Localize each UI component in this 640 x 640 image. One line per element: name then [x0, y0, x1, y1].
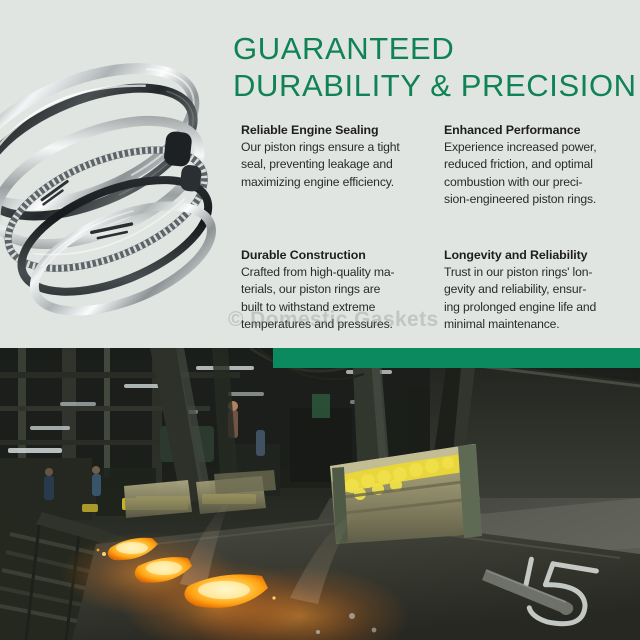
green-accent-bar	[273, 348, 640, 368]
feature-body: Trust in our piston rings' lon- gevity a…	[444, 264, 635, 334]
feature-body: Experience increased power, reduced fric…	[444, 139, 635, 209]
feature-body: Crafted from high-quality ma- terials, o…	[241, 264, 444, 334]
feature-title: Longevity and Reliability	[444, 247, 635, 263]
feature-title: Reliable Engine Sealing	[241, 122, 444, 138]
feature-body: Our piston rings ensure a tight seal, pr…	[241, 139, 444, 191]
feature-item-longevity-and-reliability: Longevity and Reliability Trust in our p…	[444, 247, 635, 334]
piston-rings-image	[0, 14, 222, 332]
top-content-panel: GUARANTEED DURABILITY & PRECISION Reliab…	[0, 0, 640, 348]
marketing-graphic-page: GUARANTEED DURABILITY & PRECISION Reliab…	[0, 0, 640, 640]
headline-line-2: DURABILITY & PRECISION	[233, 67, 633, 104]
headline-line-1: GUARANTEED	[233, 30, 633, 67]
feature-item-durable-construction: Durable Construction Crafted from high-q…	[241, 247, 444, 334]
feature-item-enhanced-performance: Enhanced Performance Experience increase…	[444, 122, 635, 247]
feature-title: Enhanced Performance	[444, 122, 635, 138]
feature-title: Durable Construction	[241, 247, 444, 263]
page-title: GUARANTEED DURABILITY & PRECISION	[233, 30, 633, 104]
feature-item-reliable-engine-sealing: Reliable Engine Sealing Our piston rings…	[241, 122, 444, 247]
factory-photo	[0, 348, 640, 640]
feature-grid: Reliable Engine Sealing Our piston rings…	[241, 122, 635, 334]
